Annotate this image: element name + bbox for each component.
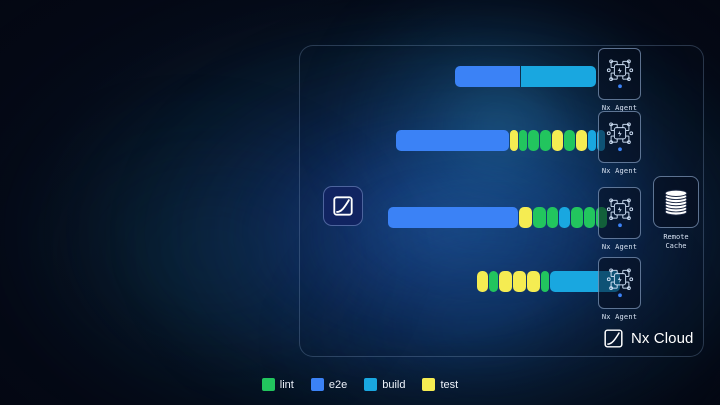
task-segment-lint[interactable] <box>584 207 595 228</box>
legend-item-build[interactable]: build <box>364 378 405 391</box>
gantt-row-2 <box>396 130 605 151</box>
agent-chip-box-1 <box>598 48 641 100</box>
agent-card-4[interactable]: Nx Agent <box>598 257 641 321</box>
agent-label-4: Nx Agent <box>598 313 641 321</box>
task-segment-lint[interactable] <box>489 271 498 292</box>
agent-chip-box-3 <box>598 187 641 239</box>
task-segment-e2e[interactable] <box>388 207 518 228</box>
nx-agent-chip-icon <box>605 264 635 302</box>
legend-item-test[interactable]: test <box>422 378 458 391</box>
legend-label-build: build <box>382 379 405 391</box>
task-segment-test[interactable] <box>552 130 563 151</box>
agent-card-2[interactable]: Nx Agent <box>598 111 641 175</box>
task-segment-e2e[interactable] <box>396 130 509 151</box>
agent-card-1[interactable]: Nx Agent <box>598 48 641 112</box>
nx-cloud-brand-label: Nx Cloud <box>631 330 694 347</box>
remote-cache-label-line1: Remote <box>653 233 699 242</box>
legend-label-e2e: e2e <box>329 379 347 391</box>
task-segment-e2e[interactable] <box>455 66 520 87</box>
nx-cloud-source-box[interactable] <box>323 186 363 226</box>
nx-cloud-logo-icon <box>332 195 354 217</box>
legend-label-lint: lint <box>280 379 294 391</box>
task-segment-test[interactable] <box>519 207 532 228</box>
task-segment-build[interactable] <box>521 66 596 87</box>
remote-cache[interactable]: Remote Cache <box>653 176 699 251</box>
legend-label-test: test <box>440 379 458 391</box>
remote-cache-box <box>653 176 699 228</box>
task-segment-lint[interactable] <box>528 130 539 151</box>
task-segment-build[interactable] <box>588 130 596 151</box>
agent-label-3: Nx Agent <box>598 243 641 251</box>
gantt-row-1 <box>455 66 596 87</box>
legend-swatch-test <box>422 378 435 391</box>
remote-cache-label: Remote Cache <box>653 233 699 251</box>
nx-cloud-brand: Nx Cloud <box>603 328 694 349</box>
agent-chip-box-2 <box>598 111 641 163</box>
task-segment-test[interactable] <box>527 271 540 292</box>
task-segment-test[interactable] <box>510 130 518 151</box>
nx-agent-chip-icon <box>605 194 635 232</box>
task-segment-lint[interactable] <box>519 130 527 151</box>
legend: linte2ebuildtest <box>0 378 720 391</box>
remote-cache-label-line2: Cache <box>653 242 699 251</box>
task-segment-lint[interactable] <box>540 130 551 151</box>
task-segment-lint[interactable] <box>541 271 549 292</box>
legend-item-lint[interactable]: lint <box>262 378 294 391</box>
database-icon <box>661 186 691 218</box>
legend-item-e2e[interactable]: e2e <box>311 378 347 391</box>
task-segment-lint[interactable] <box>533 207 546 228</box>
task-segment-test[interactable] <box>499 271 512 292</box>
task-segment-lint[interactable] <box>571 207 583 228</box>
task-segment-build[interactable] <box>559 207 570 228</box>
legend-swatch-e2e <box>311 378 324 391</box>
agent-card-3[interactable]: Nx Agent <box>598 187 641 251</box>
agent-chip-box-4 <box>598 257 641 309</box>
task-segment-test[interactable] <box>576 130 587 151</box>
gantt-row-3 <box>388 207 607 228</box>
task-segment-test[interactable] <box>513 271 526 292</box>
task-segment-lint[interactable] <box>547 207 558 228</box>
legend-swatch-build <box>364 378 377 391</box>
nx-agent-chip-icon <box>605 118 635 156</box>
agent-label-2: Nx Agent <box>598 167 641 175</box>
legend-swatch-lint <box>262 378 275 391</box>
nx-agent-chip-icon <box>605 55 635 93</box>
task-segment-test[interactable] <box>477 271 488 292</box>
nx-cloud-logo-icon <box>603 328 624 349</box>
task-segment-lint[interactable] <box>564 130 575 151</box>
